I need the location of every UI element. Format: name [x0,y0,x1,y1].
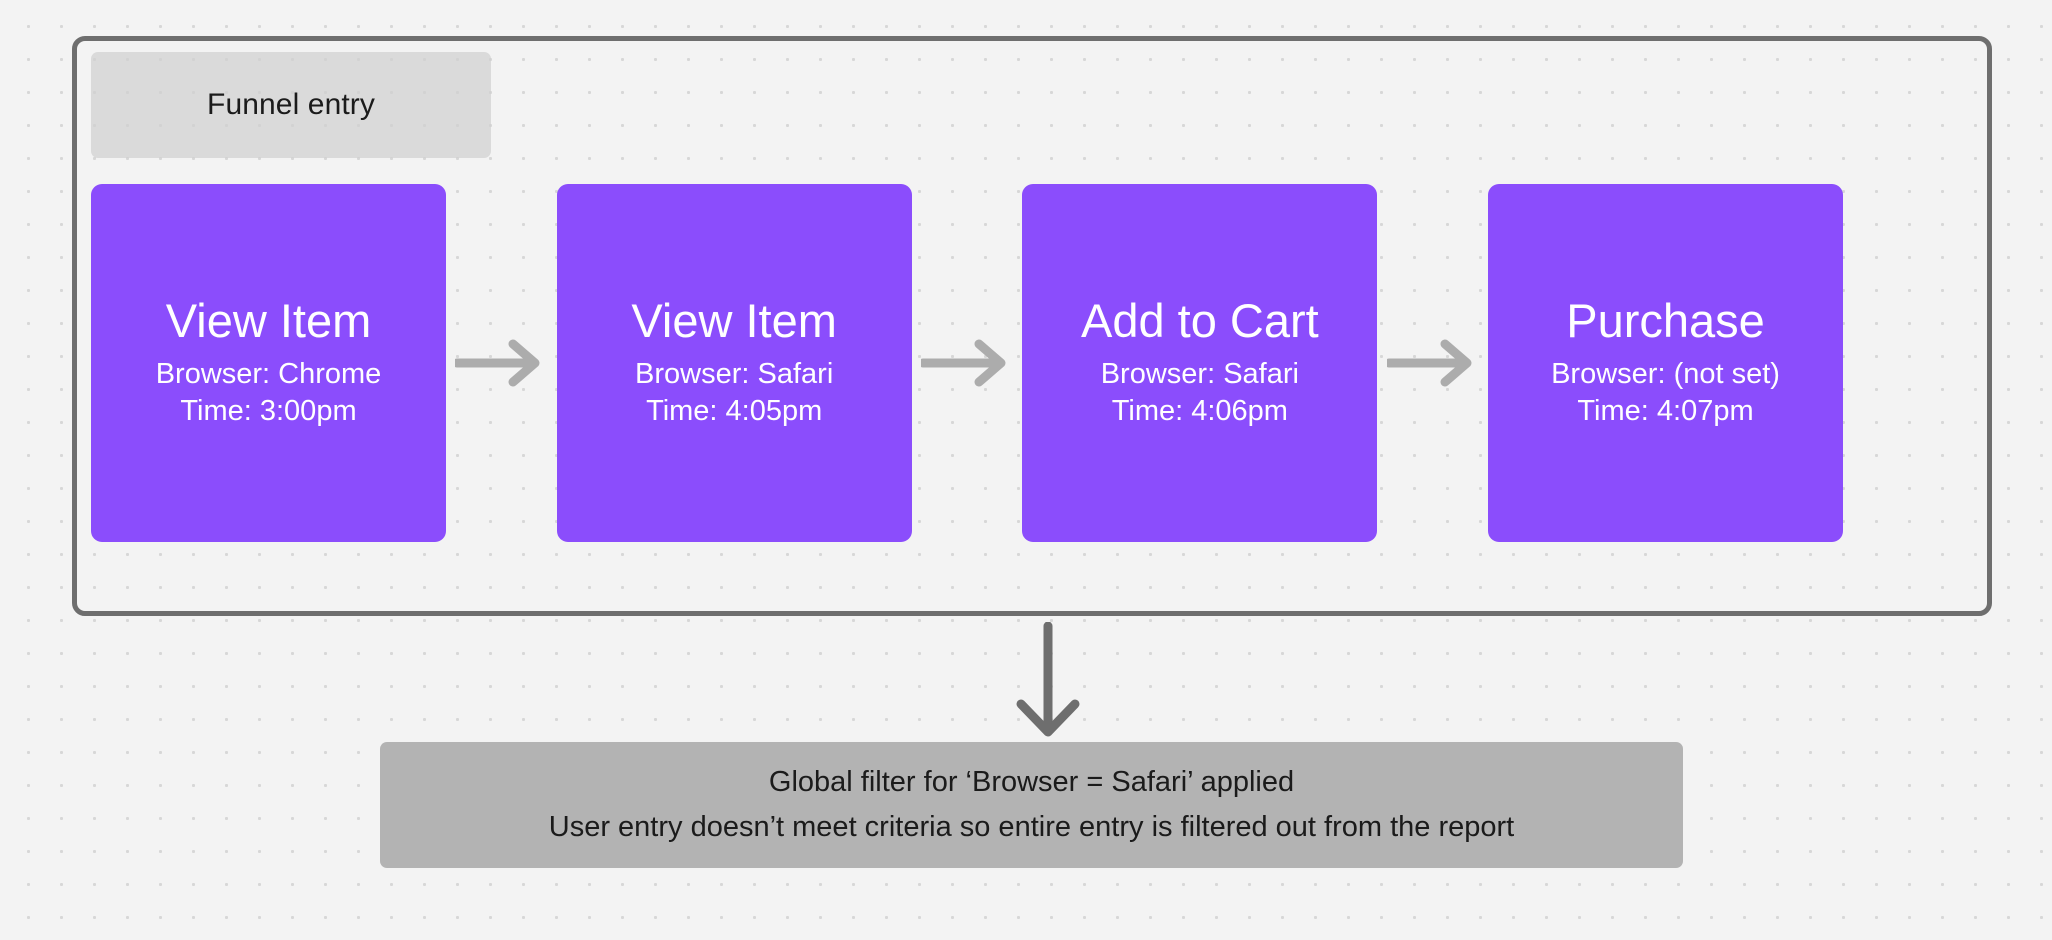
step-title: Add to Cart [1081,296,1319,346]
arrow-right-icon [1377,333,1488,393]
filter-note-banner: Global filter for ‘Browser = Safari’ app… [380,742,1683,868]
funnel-step-card[interactable]: View Item Browser: Safari Time: 4:05pm [557,184,912,542]
step-time: Time: 4:05pm [646,393,822,430]
step-browser: Browser: Safari [1101,356,1299,393]
step-time: Time: 4:06pm [1112,393,1288,430]
step-browser: Browser: Chrome [156,356,382,393]
funnel-step-card[interactable]: Add to Cart Browser: Safari Time: 4:06pm [1022,184,1377,542]
arrow-right-icon [446,333,557,393]
arrow-down-icon [1005,622,1091,740]
filter-note-line-1: Global filter for ‘Browser = Safari’ app… [769,760,1294,805]
funnel-steps-row: View Item Browser: Chrome Time: 3:00pm V… [91,184,1843,542]
filter-note-line-2: User entry doesn’t meet criteria so enti… [549,805,1514,850]
step-title: View Item [631,296,837,346]
step-time: Time: 4:07pm [1577,393,1753,430]
step-time: Time: 3:00pm [180,393,356,430]
arrow-right-icon [912,333,1023,393]
step-title: Purchase [1566,296,1765,346]
funnel-entry-label-text: Funnel entry [207,88,375,122]
step-browser: Browser: (not set) [1551,356,1780,393]
diagram-canvas: Funnel entry View Item Browser: Chrome T… [0,0,2052,940]
funnel-step-card[interactable]: Purchase Browser: (not set) Time: 4:07pm [1488,184,1843,542]
step-browser: Browser: Safari [635,356,833,393]
funnel-step-card[interactable]: View Item Browser: Chrome Time: 3:00pm [91,184,446,542]
funnel-entry-label: Funnel entry [91,52,491,158]
step-title: View Item [166,296,372,346]
